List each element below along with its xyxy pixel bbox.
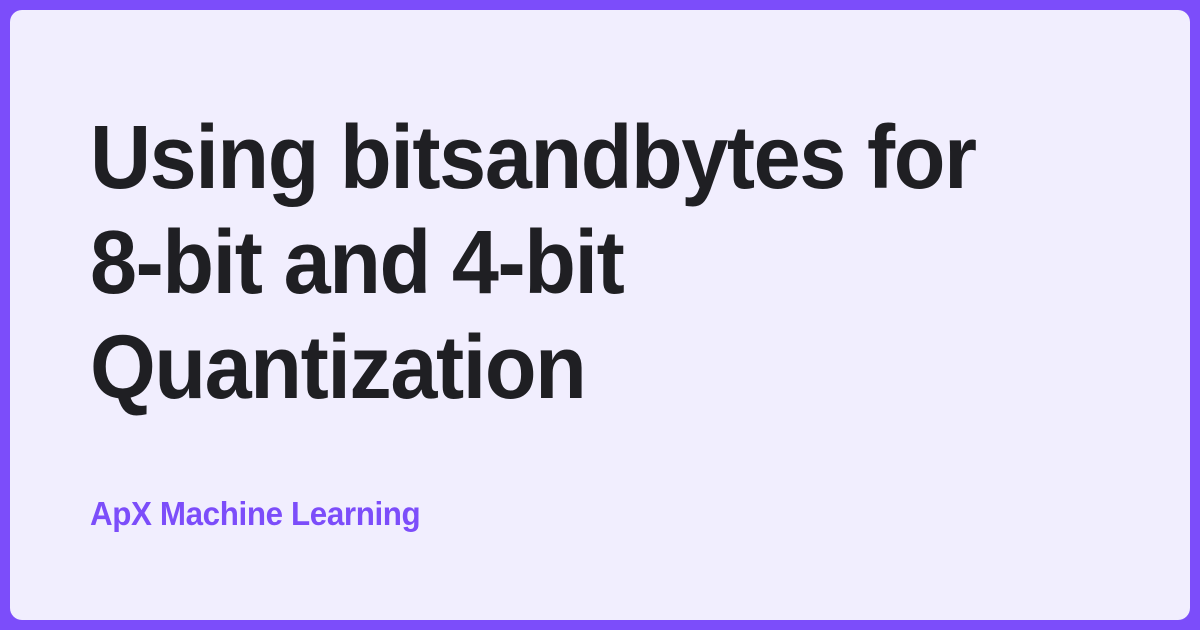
page-title: Using bitsandbytes for 8-bit and 4-bit Q… (90, 106, 1056, 421)
og-card: Using bitsandbytes for 8-bit and 4-bit Q… (0, 0, 1200, 630)
card-surface: Using bitsandbytes for 8-bit and 4-bit Q… (10, 10, 1190, 620)
byline-block: ApX Machine Learning (90, 494, 1118, 534)
title-block: Using bitsandbytes for 8-bit and 4-bit Q… (90, 106, 1118, 421)
brand-byline: ApX Machine Learning (90, 494, 1067, 534)
